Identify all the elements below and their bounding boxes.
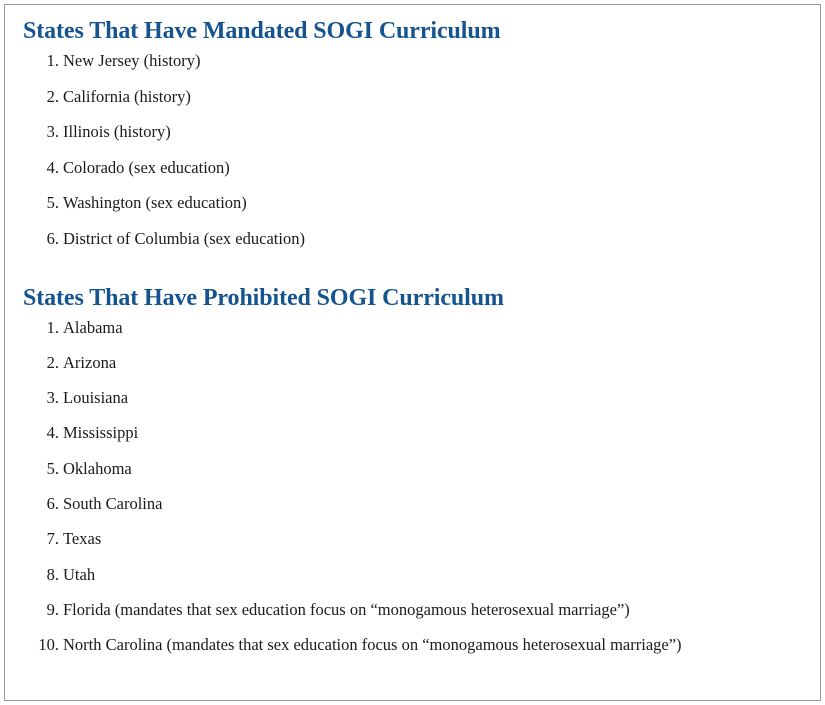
list-item: 10. North Carolina (mandates that sex ed… xyxy=(19,635,806,670)
list-item-number: 1. xyxy=(19,51,63,71)
list-item-number: 5. xyxy=(19,459,63,479)
list-item-text: Florida (mandates that sex education foc… xyxy=(63,600,806,620)
list-item-text: Louisiana xyxy=(63,388,806,408)
list-item: 8. Utah xyxy=(19,565,806,600)
list-item-text: New Jersey (history) xyxy=(63,51,806,71)
list-item-text: Washington (sex education) xyxy=(63,193,806,213)
list-item-text: Illinois (history) xyxy=(63,122,806,142)
list-item: 4. Mississippi xyxy=(19,423,806,458)
list-item: 5. Washington (sex education) xyxy=(19,193,806,229)
list-item-text: Mississippi xyxy=(63,423,806,443)
list-item-number: 1. xyxy=(19,318,63,338)
list-item: 2. California (history) xyxy=(19,87,806,123)
content-frame: States That Have Mandated SOGI Curriculu… xyxy=(4,4,821,701)
list-item-number: 10. xyxy=(19,635,63,655)
section-mandated: States That Have Mandated SOGI Curriculu… xyxy=(19,17,806,265)
list-item-number: 2. xyxy=(19,87,63,107)
list-item: 3. Illinois (history) xyxy=(19,122,806,158)
list-item-number: 9. xyxy=(19,600,63,620)
list-item-text: Colorado (sex education) xyxy=(63,158,806,178)
list-item: 4. Colorado (sex education) xyxy=(19,158,806,194)
section-heading-prohibited: States That Have Prohibited SOGI Curricu… xyxy=(23,284,806,312)
page-root: States That Have Mandated SOGI Curriculu… xyxy=(0,0,825,705)
section-heading-mandated: States That Have Mandated SOGI Curriculu… xyxy=(23,17,806,45)
list-item-number: 3. xyxy=(19,388,63,408)
list-item-text: South Carolina xyxy=(63,494,806,514)
list-item-number: 3. xyxy=(19,122,63,142)
list-item: 5. Oklahoma xyxy=(19,459,806,494)
list-item-text: North Carolina (mandates that sex educat… xyxy=(63,635,806,655)
list-item: 6. South Carolina xyxy=(19,494,806,529)
state-list-prohibited: 1. Alabama 2. Arizona 3. Louisiana 4. Mi… xyxy=(19,318,806,671)
list-item: 3. Louisiana xyxy=(19,388,806,423)
list-item-number: 8. xyxy=(19,565,63,585)
section-prohibited: States That Have Prohibited SOGI Curricu… xyxy=(19,284,806,671)
list-item: 7. Texas xyxy=(19,529,806,564)
list-item-number: 7. xyxy=(19,529,63,549)
list-item-text: Utah xyxy=(63,565,806,585)
list-item-text: Alabama xyxy=(63,318,806,338)
list-item-number: 6. xyxy=(19,494,63,514)
list-item: 1. New Jersey (history) xyxy=(19,51,806,87)
state-list-mandated: 1. New Jersey (history) 2. California (h… xyxy=(19,51,806,265)
list-item: 9. Florida (mandates that sex education … xyxy=(19,600,806,635)
list-item-text: Texas xyxy=(63,529,806,549)
list-item-number: 2. xyxy=(19,353,63,373)
list-item-number: 4. xyxy=(19,423,63,443)
list-item: 1. Alabama xyxy=(19,318,806,353)
list-item-text: Arizona xyxy=(63,353,806,373)
list-item-text: District of Columbia (sex education) xyxy=(63,229,806,249)
list-item: 2. Arizona xyxy=(19,353,806,388)
list-item-number: 5. xyxy=(19,193,63,213)
list-item-number: 6. xyxy=(19,229,63,249)
list-item-number: 4. xyxy=(19,158,63,178)
list-item-text: Oklahoma xyxy=(63,459,806,479)
list-item: 6. District of Columbia (sex education) xyxy=(19,229,806,265)
list-item-text: California (history) xyxy=(63,87,806,107)
